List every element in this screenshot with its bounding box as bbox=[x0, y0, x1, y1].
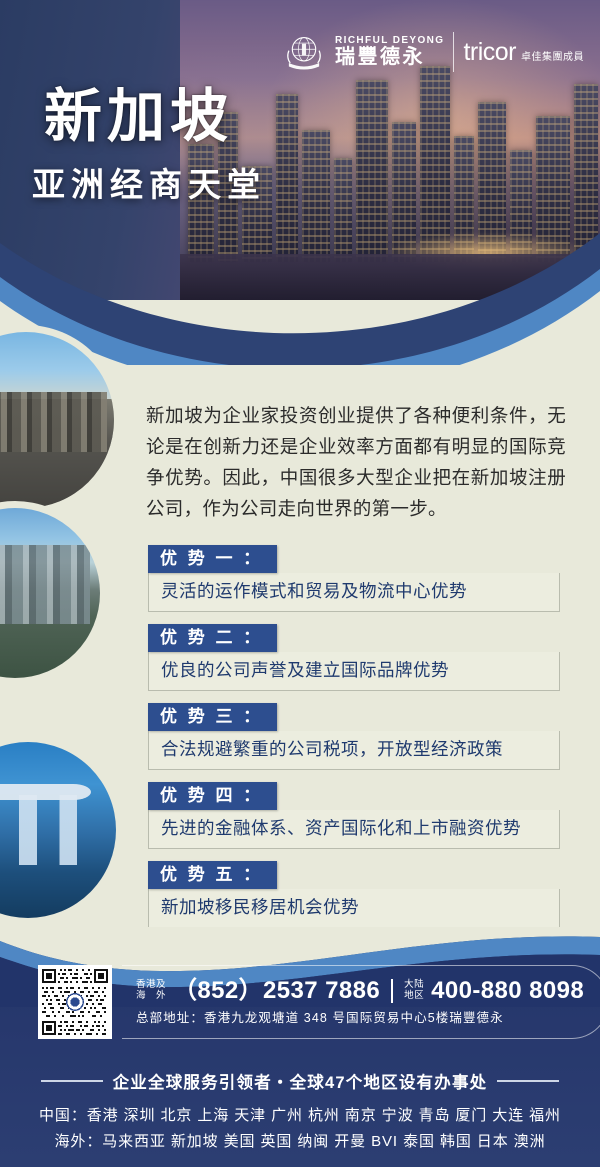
advantage-item-5: 优 势 五 ： 新加坡移民移居机会优势 bbox=[148, 861, 560, 928]
cn-region-label-line2: 地区 bbox=[404, 991, 424, 1002]
brand-english-name: RICHFUL DEYONG bbox=[335, 35, 444, 46]
tagline-rule-left bbox=[41, 1080, 103, 1082]
advantage-text: 先进的金融体系、资产国际化和上市融资优势 bbox=[148, 810, 560, 849]
photo-circle-cityscape bbox=[0, 508, 100, 678]
office-locations: 中国：香港 深圳 北京 上海 天津 广州 杭州 南京 宁波 青岛 厦门 大连 福… bbox=[0, 1103, 600, 1155]
phone-row: 香港及 海 外 （852）2537 7886 大陆 地区 400-880 809… bbox=[136, 979, 584, 1003]
cn-region-label: 大陆 地区 bbox=[404, 980, 424, 1001]
richful-deyong-crest-icon bbox=[282, 30, 326, 74]
advantage-text: 灵活的运作模式和贸易及物流中心优势 bbox=[148, 573, 560, 612]
hk-region-label: 香港及 海 外 bbox=[136, 980, 166, 1001]
advantage-text: 新加坡移民移居机会优势 bbox=[148, 889, 560, 928]
advantage-tag: 优 势 二 ： bbox=[148, 624, 277, 652]
contact-details: 香港及 海 外 （852）2537 7886 大陆 地区 400-880 809… bbox=[122, 965, 600, 1039]
advantage-tag: 优 势 五 ： bbox=[148, 861, 277, 889]
brand-logo-lockup[interactable]: RICHFUL DEYONG 瑞豐德永 tricor 卓佳集團成員 bbox=[282, 30, 584, 74]
cn-region-label-line1: 大陆 bbox=[404, 980, 424, 991]
advantage-item-2: 优 势 二 ： 优良的公司声誉及建立国际品牌优势 bbox=[148, 624, 560, 691]
advantage-text: 合法规避繁重的公司税项，开放型经济政策 bbox=[148, 731, 560, 770]
hk-region-label-line1: 香港及 bbox=[136, 980, 166, 991]
advantage-item-4: 优 势 四 ： 先进的金融体系、资产国际化和上市融资优势 bbox=[148, 782, 560, 849]
logo-divider bbox=[453, 32, 454, 72]
qr-code-icon[interactable] bbox=[38, 965, 112, 1039]
brand-chinese-name: 瑞豐德永 bbox=[335, 46, 444, 69]
photo-circle-shophouse bbox=[0, 332, 114, 508]
advantage-tag: 优 势 一 ： bbox=[148, 545, 277, 573]
hk-region-label-line2: 海 外 bbox=[136, 991, 166, 1002]
overseas-cities: 海外：马来西亚 新加坡 美国 英国 纳闽 开曼 BVI 泰国 韩国 日本 澳洲 bbox=[0, 1129, 600, 1155]
poster-root: 新加坡 亚洲经商天堂 RICHFUL DEYONG 瑞豐德永 tricor bbox=[0, 0, 600, 1167]
advantage-text: 优良的公司声誉及建立国际品牌优势 bbox=[148, 652, 560, 691]
marina-bay-sands-photo bbox=[0, 742, 116, 918]
advantage-tag: 优 势 四 ： bbox=[148, 782, 277, 810]
photo-circle-marina-bay bbox=[0, 742, 116, 918]
tagline-rule-right bbox=[497, 1080, 559, 1082]
headquarters-address: 总部地址：香港九龙观塘道 348 号国际贸易中心5楼瑞豐德永 bbox=[136, 1007, 584, 1026]
advantage-item-1: 优 势 一 ： 灵活的运作模式和贸易及物流中心优势 bbox=[148, 545, 560, 612]
intro-paragraph: 新加坡为企业家投资创业提供了各种便利条件，无论是在创新力还是企业效率方面都有明显… bbox=[146, 400, 566, 524]
partner-member-label: 卓佳集團成員 bbox=[521, 48, 584, 63]
advantage-tag: 优 势 三 ： bbox=[148, 703, 277, 731]
page-subtitle: 亚洲经商天堂 bbox=[32, 168, 266, 201]
tagline-row: 企业全球服务引领者・全球47个地区设有办事处 bbox=[0, 1069, 600, 1093]
contact-block: 香港及 海 外 （852）2537 7886 大陆 地区 400-880 809… bbox=[38, 965, 600, 1039]
hk-phone-number[interactable]: （852）2537 7886 bbox=[173, 979, 380, 1003]
page-title: 新加坡 bbox=[44, 88, 233, 146]
advantages-list: 优 势 一 ： 灵活的运作模式和贸易及物流中心优势 优 势 二 ： 优良的公司声… bbox=[148, 545, 560, 940]
advantage-item-3: 优 势 三 ： 合法规避繁重的公司税项，开放型经济政策 bbox=[148, 703, 560, 770]
partner-logo-tricor: tricor bbox=[463, 40, 516, 65]
cn-phone-number[interactable]: 400-880 8098 bbox=[431, 979, 584, 1003]
singapore-shophouse-street-photo bbox=[0, 332, 114, 508]
singapore-cityscape-greenery-photo bbox=[0, 508, 100, 678]
phone-separator bbox=[391, 979, 393, 1003]
company-tagline: 企业全球服务引领者・全球47个地区设有办事处 bbox=[113, 1069, 488, 1093]
footer-panel: 香港及 海 外 （852）2537 7886 大陆 地区 400-880 809… bbox=[0, 927, 600, 1167]
domestic-cities: 中国：香港 深圳 北京 上海 天津 广州 杭州 南京 宁波 青岛 厦门 大连 福… bbox=[0, 1103, 600, 1129]
